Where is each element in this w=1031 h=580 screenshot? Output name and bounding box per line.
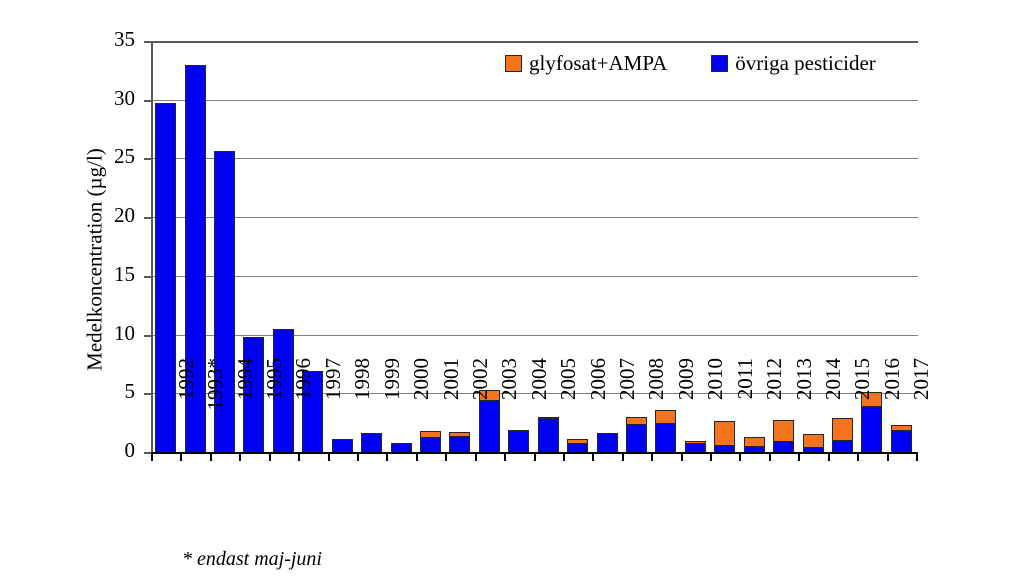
legend-item-glyfosat: glyfosat+AMPA (505, 51, 667, 76)
x-axis-label-2009: 2009 (674, 358, 699, 468)
x-axis-label-1997: 1997 (321, 358, 346, 468)
x-axis-label-2007: 2007 (615, 358, 640, 468)
x-axis-label-2010: 2010 (703, 358, 728, 468)
y-tick-mark-10 (144, 335, 151, 337)
y-tick-label-35: 35 (95, 27, 135, 52)
y-tick-mark-0 (144, 452, 151, 454)
x-axis-label-1994: 1994 (233, 358, 258, 468)
x-axis-label-1998: 1998 (350, 358, 375, 468)
y-tick-label-25: 25 (95, 144, 135, 169)
y-tick-label-10: 10 (95, 321, 135, 346)
x-axis-label-1992: 1992 (174, 358, 199, 468)
bar-chart: Medelkoncentration (µg/l) 05101520253035… (0, 0, 1031, 580)
legend-swatch-icon-orange (505, 55, 522, 72)
y-tick-mark-20 (144, 217, 151, 219)
x-axis-label-2000: 2000 (409, 358, 434, 468)
x-axis-label-2011: 2011 (733, 358, 758, 468)
x-axis-label-2012: 2012 (762, 358, 787, 468)
footnote: * endast maj-juni (182, 548, 322, 571)
legend: glyfosat+AMPA övriga pesticider (505, 51, 876, 76)
y-tick-mark-25 (144, 158, 151, 160)
x-axis-label-2005: 2005 (556, 358, 581, 468)
x-axis-label-1999: 1999 (380, 358, 405, 468)
legend-swatch-icon-blue (711, 55, 728, 72)
x-axis-label-2002: 2002 (468, 358, 493, 468)
y-tick-mark-30 (144, 100, 151, 102)
y-tick-mark-5 (144, 393, 151, 395)
y-tick-mark-35 (144, 41, 151, 43)
y-tick-label-20: 20 (95, 203, 135, 228)
legend-item-ovriga: övriga pesticider (711, 51, 876, 76)
legend-label-ovriga: övriga pesticider (735, 51, 876, 76)
legend-label-glyfosat: glyfosat+AMPA (529, 51, 667, 76)
x-axis-label-2015: 2015 (850, 358, 875, 468)
x-axis-label-1993-star: 1993* (203, 358, 228, 468)
x-axis-label-2013: 2013 (792, 358, 817, 468)
x-axis-label-2017: 2017 (909, 358, 934, 468)
y-tick-mark-15 (144, 276, 151, 278)
y-tick-label-0: 0 (95, 438, 135, 463)
x-axis-label-2001: 2001 (439, 358, 464, 468)
x-axis-label-1995: 1995 (262, 358, 287, 468)
x-tick-mark-0 (151, 452, 153, 461)
x-axis-label-2006: 2006 (586, 358, 611, 468)
x-axis-label-2016: 2016 (880, 358, 905, 468)
x-axis-label-2004: 2004 (527, 358, 552, 468)
y-tick-label-30: 30 (95, 86, 135, 111)
x-axis-label-1996: 1996 (291, 358, 316, 468)
y-tick-label-15: 15 (95, 262, 135, 287)
x-axis-label-2003: 2003 (497, 358, 522, 468)
x-axis-label-2008: 2008 (644, 358, 669, 468)
x-axis-label-2014: 2014 (821, 358, 846, 468)
y-tick-label-5: 5 (95, 379, 135, 404)
